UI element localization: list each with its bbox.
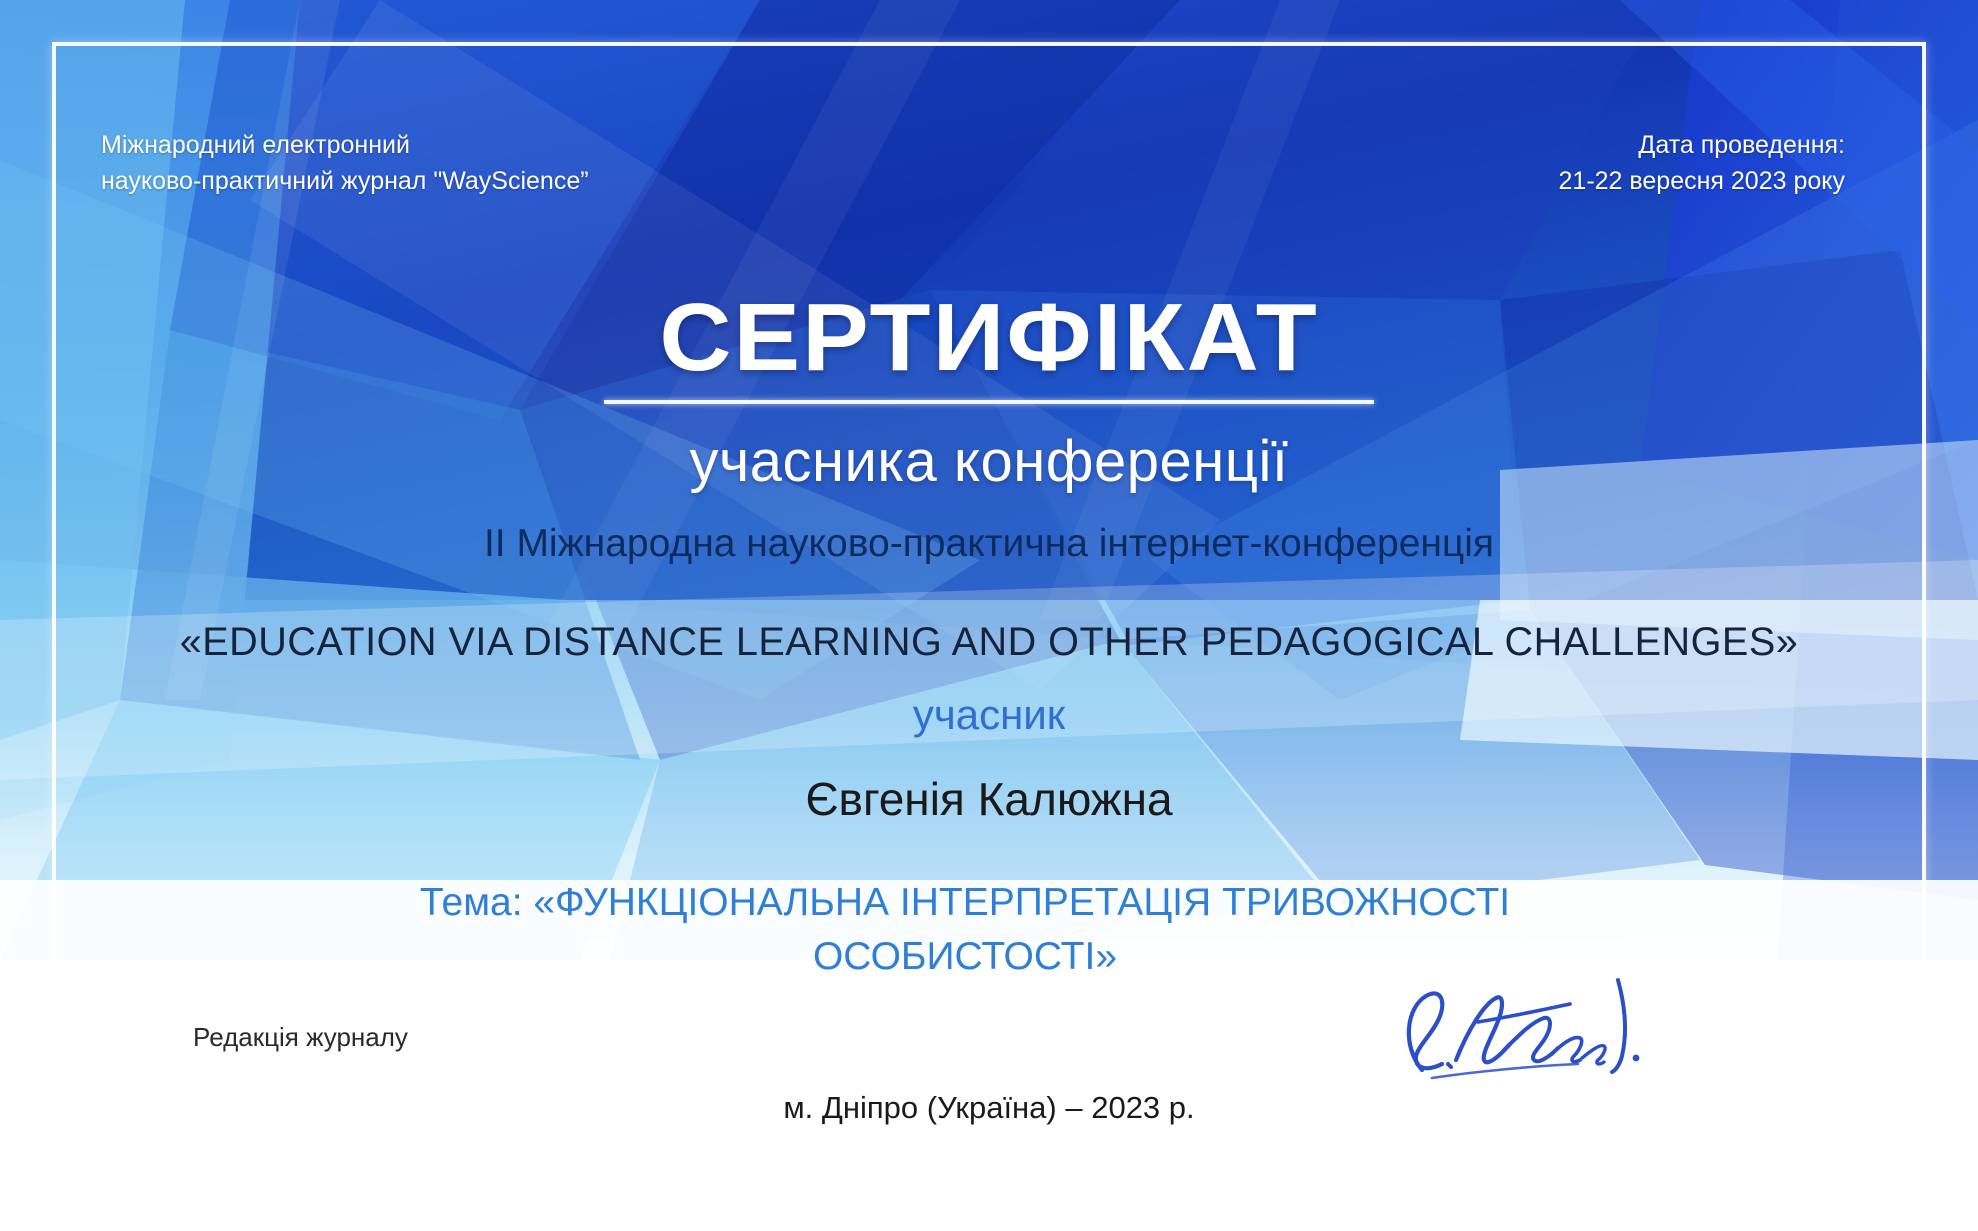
certificate-content: Міжнародний електронний науково-практичн… (0, 0, 1978, 1231)
participant-name: Євгенія Калюжна (0, 772, 1978, 826)
certificate-title-wrap: СЕРТИФІКАТ (0, 290, 1978, 404)
journal-name-line1: Міжнародний електронний (101, 127, 589, 163)
conference-name-uk: II Міжнародна науково-практична інтернет… (0, 522, 1978, 566)
certificate-page: Міжнародний електронний науково-практичн… (0, 0, 1978, 1231)
issuer-label: Редакція журналу (193, 1022, 408, 1053)
event-date-block: Дата проведення: 21-22 вересня 2023 року (1559, 127, 1845, 200)
event-date-label: Дата проведення: (1559, 127, 1845, 163)
place-and-year: м. Дніпро (Україна) – 2023 р. (0, 1090, 1978, 1126)
certificate-title: СЕРТИФІКАТ (659, 290, 1319, 386)
journal-name-line2: науково-практичний журнал "WayScience” (101, 163, 589, 199)
signature-icon (1392, 960, 1672, 1080)
event-date-value: 21-22 вересня 2023 року (1559, 163, 1845, 199)
participant-role: учасник (0, 691, 1978, 739)
title-divider-rule (604, 400, 1374, 404)
topic-line-1: Тема: «ФУНКЦІОНАЛЬНА ІНТЕРПРЕТАЦІЯ ТРИВО… (420, 881, 1510, 924)
conference-name-en: «EDUCATION VIA DISTANCE LEARNING AND OTH… (10, 620, 1968, 665)
journal-identification: Міжнародний електронний науково-практичн… (101, 127, 589, 200)
certificate-subtitle: учасника конференції (0, 428, 1978, 495)
